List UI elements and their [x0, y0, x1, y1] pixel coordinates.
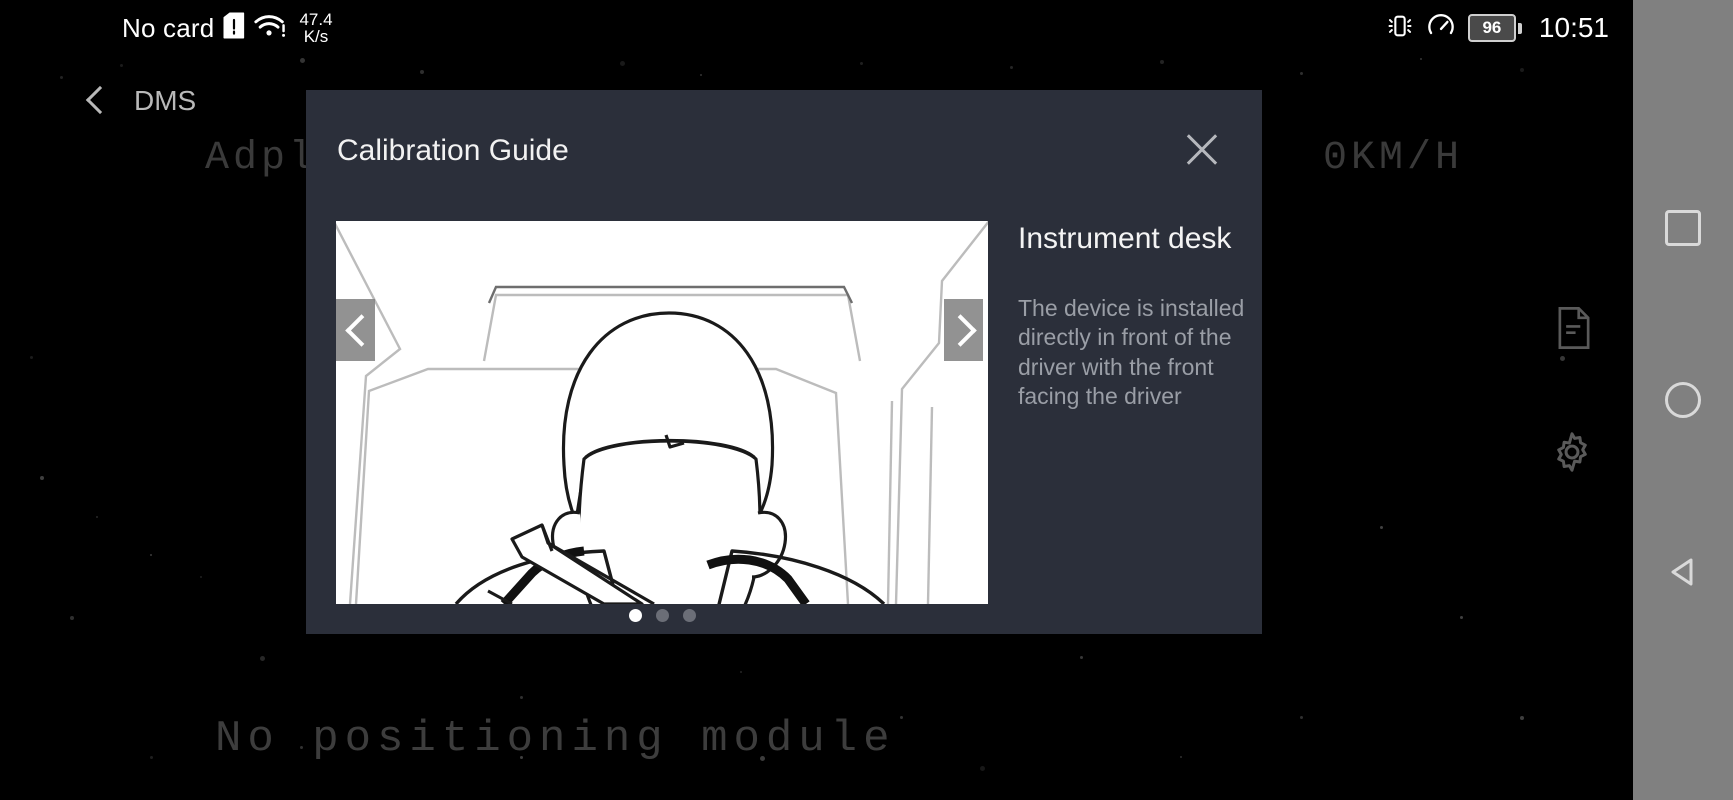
- triangle-back-icon[interactable]: [1662, 551, 1704, 593]
- calibration-illustration: [336, 221, 988, 604]
- carousel-dot-1[interactable]: [629, 609, 642, 622]
- gear-icon[interactable]: [1551, 431, 1593, 478]
- speedometer-icon: [1427, 12, 1455, 45]
- battery-level: 96: [1482, 18, 1501, 38]
- slide-title: Instrument desk: [1018, 221, 1256, 257]
- network-speed-unit: K/s: [304, 28, 329, 45]
- chevron-left-icon[interactable]: [336, 299, 375, 361]
- chevron-right-icon[interactable]: [944, 299, 983, 361]
- android-navigation-bar: [1633, 0, 1733, 800]
- page-title: DMS: [134, 85, 196, 117]
- slide-description: The device is installed directly in fron…: [1018, 294, 1256, 412]
- document-icon[interactable]: [1555, 306, 1593, 355]
- sim-card-alert-icon: [223, 12, 245, 44]
- wifi-alert-icon: [254, 13, 286, 44]
- network-speed-value: 47.4: [299, 11, 332, 28]
- close-icon[interactable]: [1174, 122, 1230, 178]
- carrier-label: No card: [122, 13, 214, 44]
- network-speed: 47.4 K/s: [299, 11, 332, 45]
- driver-seated-front-view-illustration: [336, 221, 988, 604]
- status-bar: No card 47.4 K/s: [0, 0, 1633, 56]
- dialog-title: Calibration Guide: [337, 134, 569, 168]
- vibrate-icon: [1386, 13, 1414, 44]
- carousel-pagination: [629, 609, 696, 622]
- calibration-guide-dialog: Calibration Guide: [306, 90, 1262, 634]
- square-recents-icon[interactable]: [1662, 207, 1704, 249]
- slide-info: Instrument desk The device is installed …: [1018, 221, 1256, 412]
- carousel-dot-2[interactable]: [656, 609, 669, 622]
- video-overlay-speed: 0KM/H: [1323, 136, 1463, 181]
- phone-screen: DMS Adpl 2021-07-13 08:50:07 0KM/H No po…: [0, 0, 1733, 800]
- battery-tip: [1518, 23, 1522, 34]
- status-bar-clock: 10:51: [1539, 12, 1609, 44]
- battery-indicator: 96: [1468, 14, 1522, 42]
- carousel-dot-3[interactable]: [683, 609, 696, 622]
- circle-home-icon[interactable]: [1662, 379, 1704, 421]
- video-overlay-gps-status: No positioning module: [215, 714, 896, 764]
- back-chevron-icon[interactable]: [82, 86, 112, 116]
